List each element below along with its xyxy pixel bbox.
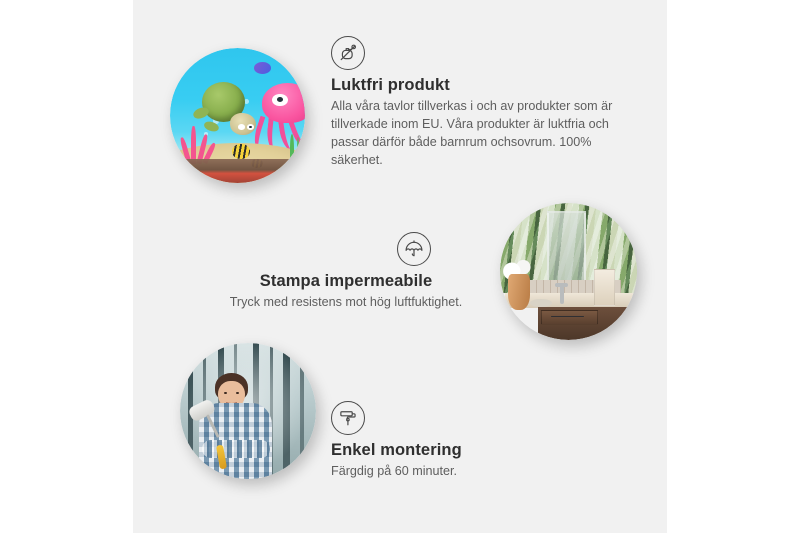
soap-dish [530,299,552,307]
no-fragrance-icon [331,36,365,70]
feature-title: Stampa impermeabile [215,272,477,291]
cabinet-handle [624,311,628,331]
decor-box [594,269,615,307]
turtle-head [230,113,256,135]
vanity-drawer [541,310,597,325]
feature-description: Färgdig på 60 minuter. [331,463,581,481]
eye [236,392,239,394]
copper-vase [508,274,530,310]
screenshot-root: Luktfri produkt Alla våra tavlor tillver… [0,0,800,533]
turtle-eye [247,124,254,130]
feature-title: Enkel montering [331,441,581,460]
feature-description: Tryck med resistens mot hög luftfuktighe… [215,294,477,312]
fish-purple [254,62,272,74]
folded-arms [202,440,270,457]
photo-underwater-inner [170,48,305,183]
fish-striped [232,144,250,159]
photo-forest-inner [180,343,316,479]
octopus-head [262,83,305,123]
photo-forest-mural [180,343,316,479]
photo-bathroom-mural [500,203,637,340]
feature-description: Alla våra tavlor tillverkas i och av pro… [331,98,623,170]
content-panel: Luktfri produkt Alla våra tavlor tillver… [133,0,667,533]
octopus-illustration [254,83,305,148]
octopus-eye [272,94,287,106]
feature-waterproof: Stampa impermeabile Tryck med resistens … [215,232,477,312]
feature-easy-mounting: Enkel montering Färgdig på 60 minuter. [331,401,581,481]
bathroom-faucet [560,285,564,304]
umbrella-icon-wrap [215,232,477,266]
photo-underwater-mural [170,48,305,183]
wooden-vanity [538,307,637,340]
umbrella-icon [397,232,431,266]
feature-odor-free: Luktfri produkt Alla våra tavlor tillver… [331,36,623,170]
bathroom-mirror [547,211,587,286]
photo-bathroom-inner [500,203,637,340]
sea-foreground-strip [170,159,305,183]
paint-roller-icon [331,401,365,435]
woman-with-roller [199,373,272,479]
feature-title: Luktfri produkt [331,76,623,95]
eye [224,392,227,394]
